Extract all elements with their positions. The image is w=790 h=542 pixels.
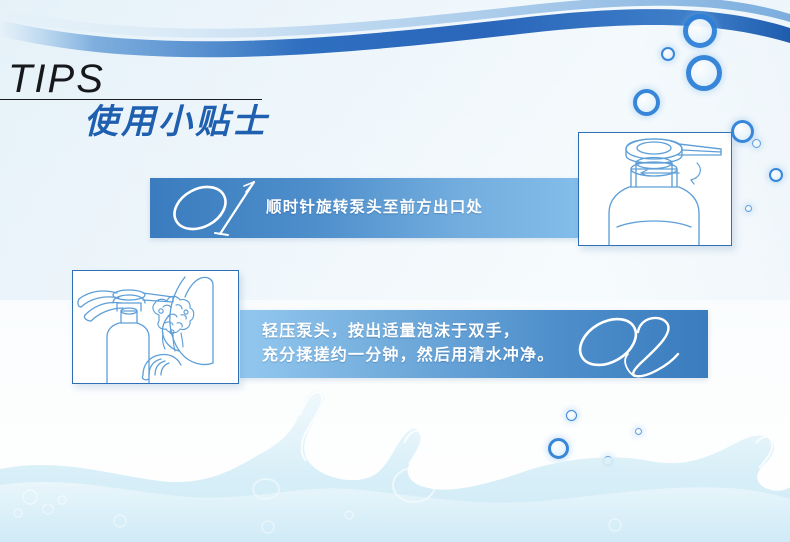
step-2-banner: 轻压泵头，按出适量泡沫于双手， 充分揉搓约一分钟，然后用清水冲净。 (240, 310, 708, 378)
page-title-en: TIPS (8, 58, 105, 100)
bubble-decoration (603, 456, 613, 466)
step-2-illustration-frame (72, 270, 239, 384)
tips-page: TIPS 使用小贴士 顺时针旋转泵头至前方出口处 (0, 0, 790, 542)
heading-divider (0, 99, 262, 100)
bubble-decoration (752, 139, 761, 148)
bubble-decoration (566, 410, 577, 421)
page-title-cn: 使用小贴士 (84, 102, 269, 142)
blue-wave-ribbon-icon (0, 0, 790, 66)
step-1-text: 顺时针旋转泵头至前方出口处 (266, 197, 483, 219)
bubble-decoration (548, 438, 569, 459)
pump-head-rotate-illustration-icon (579, 133, 731, 245)
step-1-banner: 顺时针旋转泵头至前方出口处 (150, 178, 580, 238)
bubble-decoration (745, 205, 752, 212)
bubble-decoration (769, 168, 783, 182)
step-2-text: 轻压泵头，按出适量泡沫于双手， 充分揉搓约一分钟，然后用清水冲净。 (262, 320, 554, 368)
bubble-decoration (635, 428, 642, 435)
step-1-illustration-frame (578, 132, 732, 246)
bubble-decoration (731, 120, 754, 143)
water-splash-icon (0, 357, 790, 542)
page-heading: TIPS (0, 58, 320, 104)
bubble-decoration (633, 89, 660, 116)
hands-foam-wash-illustration-icon (73, 271, 238, 383)
